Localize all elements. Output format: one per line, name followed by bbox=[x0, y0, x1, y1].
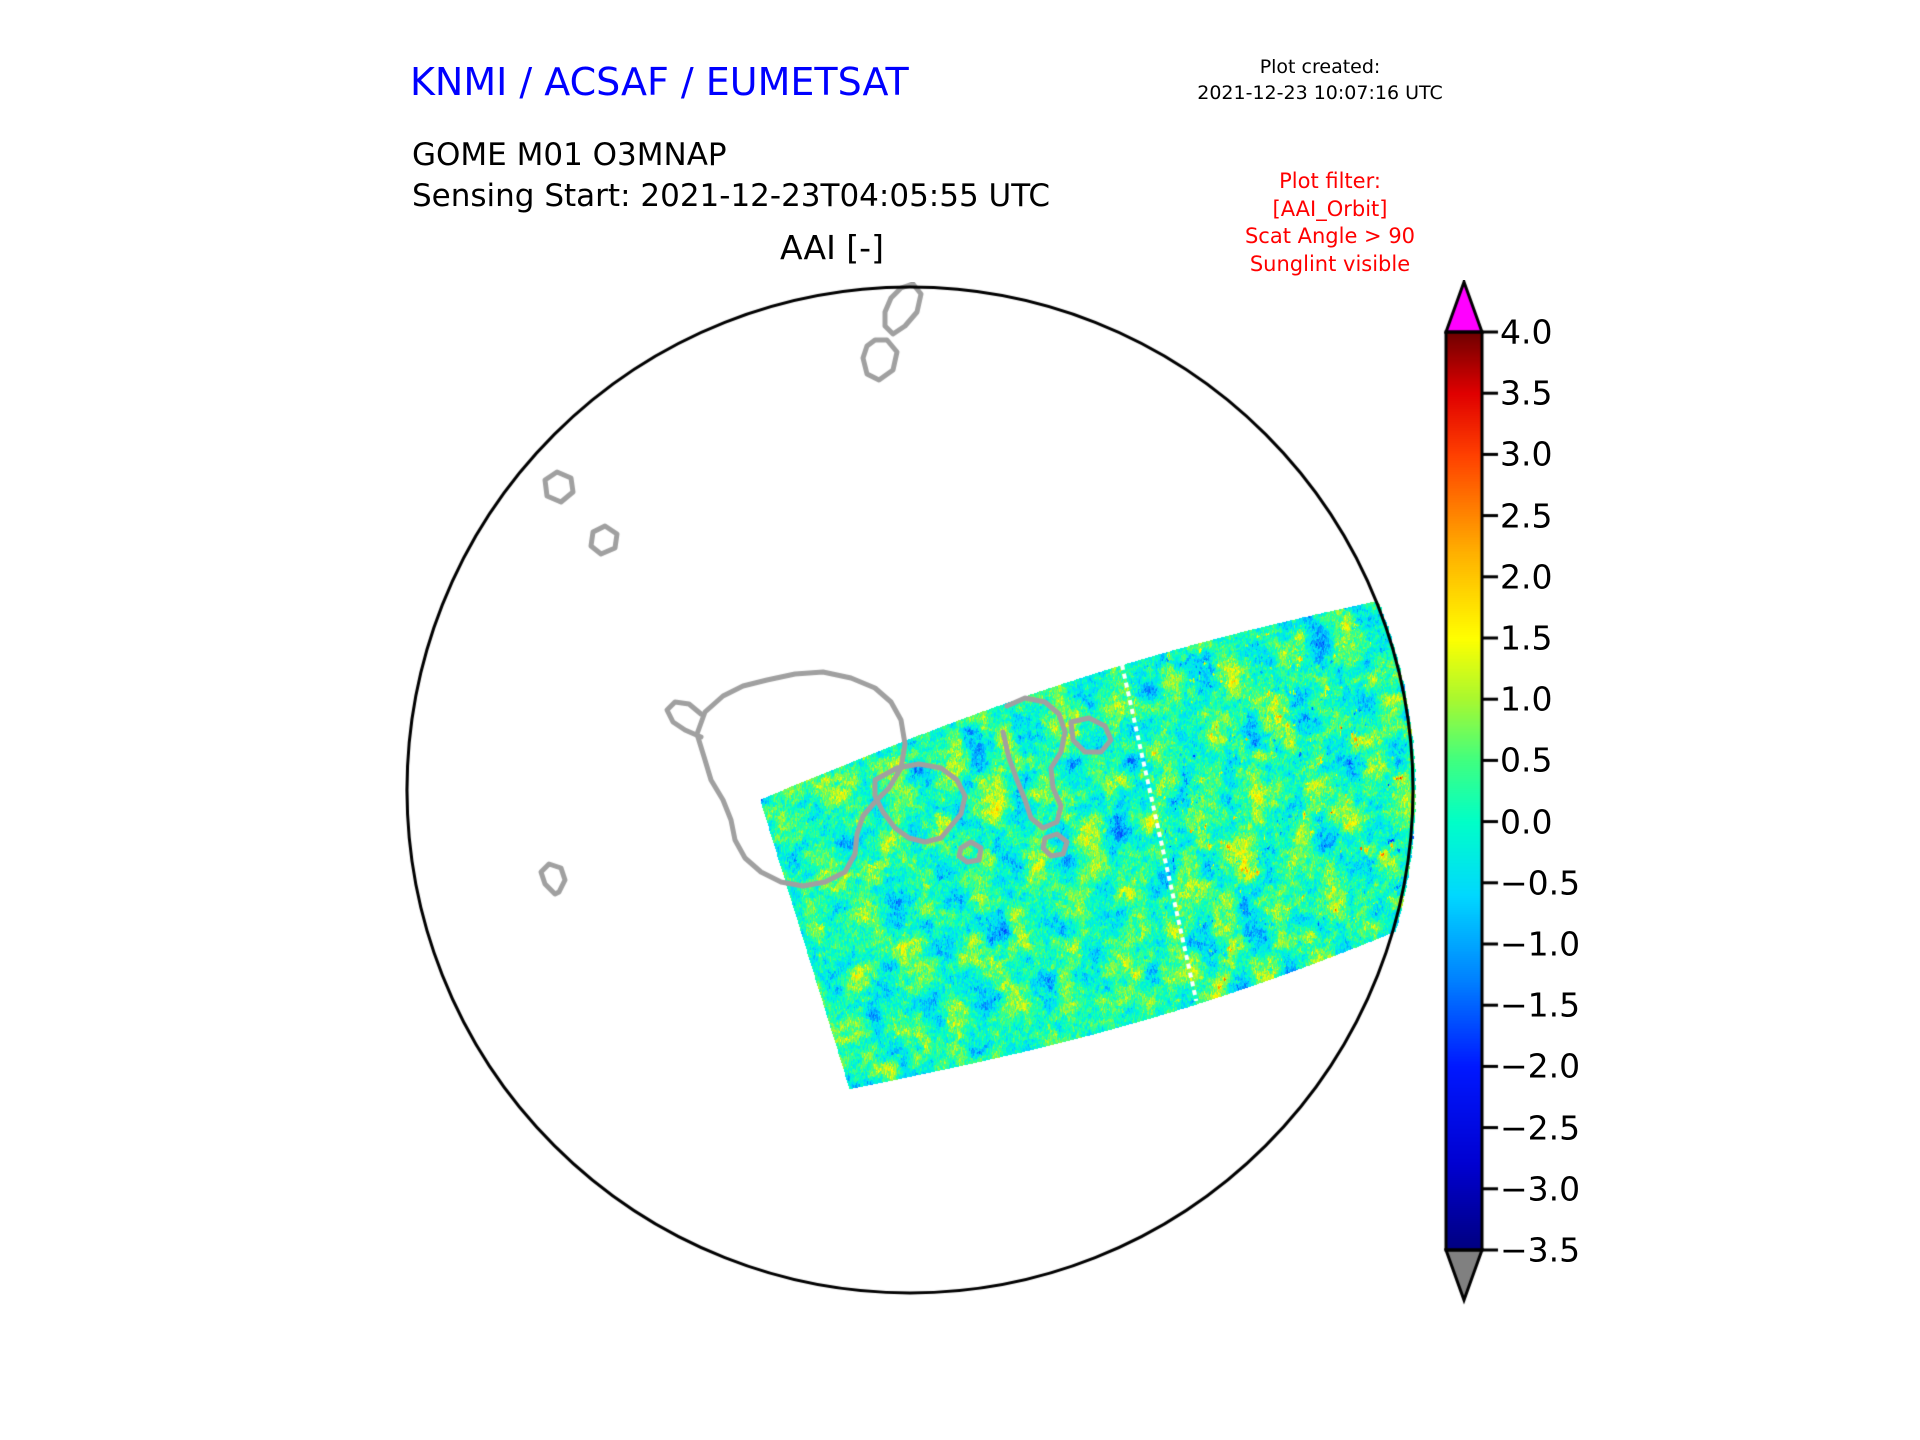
plot-filter-sunglint: Sunglint visible bbox=[1190, 251, 1470, 279]
colorbar-tick-label: 2.5 bbox=[1500, 496, 1552, 535]
colorbar-tick-label: 1.5 bbox=[1500, 619, 1552, 658]
colorbar-tick-label: 1.0 bbox=[1500, 680, 1552, 719]
swath-map-canvas bbox=[405, 282, 1417, 1298]
plot-created-block: Plot created: 2021-12-23 10:07:16 UTC bbox=[1150, 55, 1490, 106]
colorbar-tick-label: 0.0 bbox=[1500, 802, 1552, 841]
colorbar-tick-label: −2.0 bbox=[1500, 1047, 1580, 1086]
colorbar-tick-label: 3.5 bbox=[1500, 374, 1552, 413]
colorbar-tick-label: −3.0 bbox=[1500, 1169, 1580, 1208]
variable-title: AAI [-] bbox=[780, 228, 884, 267]
plot-filter-title: Plot filter: bbox=[1190, 168, 1470, 196]
colorbar-tick-label: −0.5 bbox=[1500, 863, 1580, 902]
colorbar-tick-label: −1.5 bbox=[1500, 986, 1580, 1025]
plot-filter-scat-angle: Scat Angle > 90 bbox=[1190, 223, 1470, 251]
colorbar-gradient bbox=[1440, 280, 1500, 1320]
colorbar-tick-label: 0.5 bbox=[1500, 741, 1552, 780]
organisation-title: KNMI / ACSAF / EUMETSAT bbox=[410, 60, 909, 104]
instrument-line: GOME M01 O3MNAP bbox=[412, 135, 1050, 176]
colorbar-tick-label: 4.0 bbox=[1500, 313, 1552, 352]
colorbar-tick-label: 2.0 bbox=[1500, 557, 1552, 596]
plot-created-timestamp: 2021-12-23 10:07:16 UTC bbox=[1150, 81, 1490, 107]
colorbar-panel: 4.03.53.02.52.01.51.00.50.0−0.5−1.0−1.5−… bbox=[1440, 280, 1860, 1320]
colorbar-tick-label: −2.5 bbox=[1500, 1108, 1580, 1147]
map-panel bbox=[405, 282, 1417, 1298]
plot-created-label: Plot created: bbox=[1150, 55, 1490, 81]
plot-filter-block: Plot filter: [AAI_Orbit] Scat Angle > 90… bbox=[1190, 168, 1470, 279]
colorbar-tick-label: −1.0 bbox=[1500, 925, 1580, 964]
dataset-block: GOME M01 O3MNAP Sensing Start: 2021-12-2… bbox=[412, 135, 1050, 217]
colorbar-tick-label: −3.5 bbox=[1500, 1231, 1580, 1270]
colorbar-tick-label: 3.0 bbox=[1500, 435, 1552, 474]
plot-filter-product: [AAI_Orbit] bbox=[1190, 196, 1470, 224]
sensing-start-line: Sensing Start: 2021-12-23T04:05:55 UTC bbox=[412, 176, 1050, 217]
